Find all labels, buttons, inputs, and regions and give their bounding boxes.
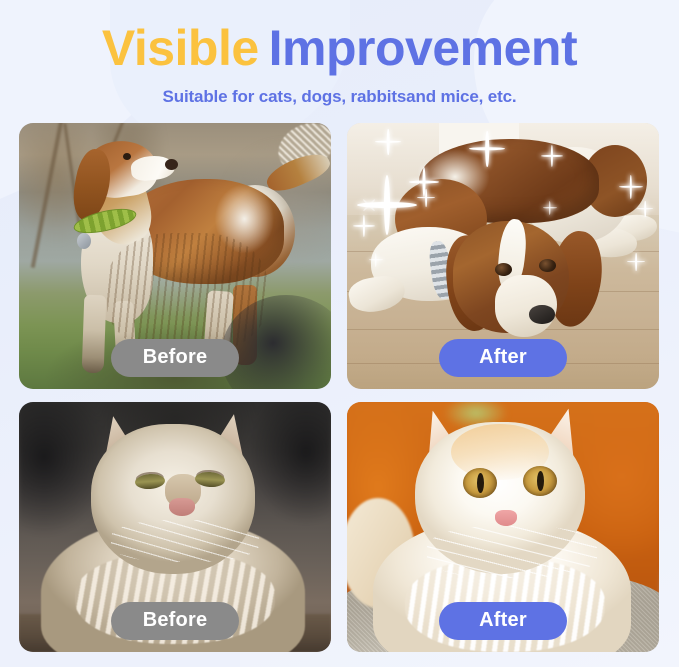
cat-pupil [477, 473, 484, 493]
sparkle-icon [627, 253, 645, 271]
dog-eye [539, 259, 556, 272]
title-word-visible: Visible [102, 20, 259, 76]
badge-before: Before [111, 339, 239, 377]
title-word-improvement: Improvement [269, 20, 577, 76]
dog-nose [529, 305, 555, 324]
dog-nose [165, 159, 178, 170]
header: VisibleImprovement Suitable for cats, do… [0, 0, 679, 107]
dog-collar-tag [77, 233, 91, 249]
comparison-card-cat-before[interactable]: Before [19, 402, 331, 652]
cat-whiskers [111, 520, 259, 562]
sparkle-icon [353, 215, 375, 237]
cat-nose [169, 498, 195, 516]
comparison-card-dog-after[interactable]: After [347, 123, 659, 389]
comparison-grid: Before [0, 123, 679, 652]
badge-after: After [439, 602, 567, 640]
comparison-card-cat-after[interactable]: After [347, 402, 659, 652]
cat-pupil [537, 471, 544, 491]
dog-eye [495, 263, 512, 276]
page-subtitle: Suitable for cats, dogs, rabbitsand mice… [0, 87, 679, 107]
page-title: VisibleImprovement [0, 22, 679, 75]
dog-eye [123, 153, 131, 160]
cat-nose [495, 510, 517, 526]
dog-leg [82, 294, 107, 373]
badge-after: After [439, 339, 567, 377]
cat-whiskers [427, 526, 597, 578]
promo-banner: VisibleImprovement Suitable for cats, do… [0, 0, 679, 667]
comparison-card-dog-before[interactable]: Before [19, 123, 331, 389]
badge-before: Before [111, 602, 239, 640]
